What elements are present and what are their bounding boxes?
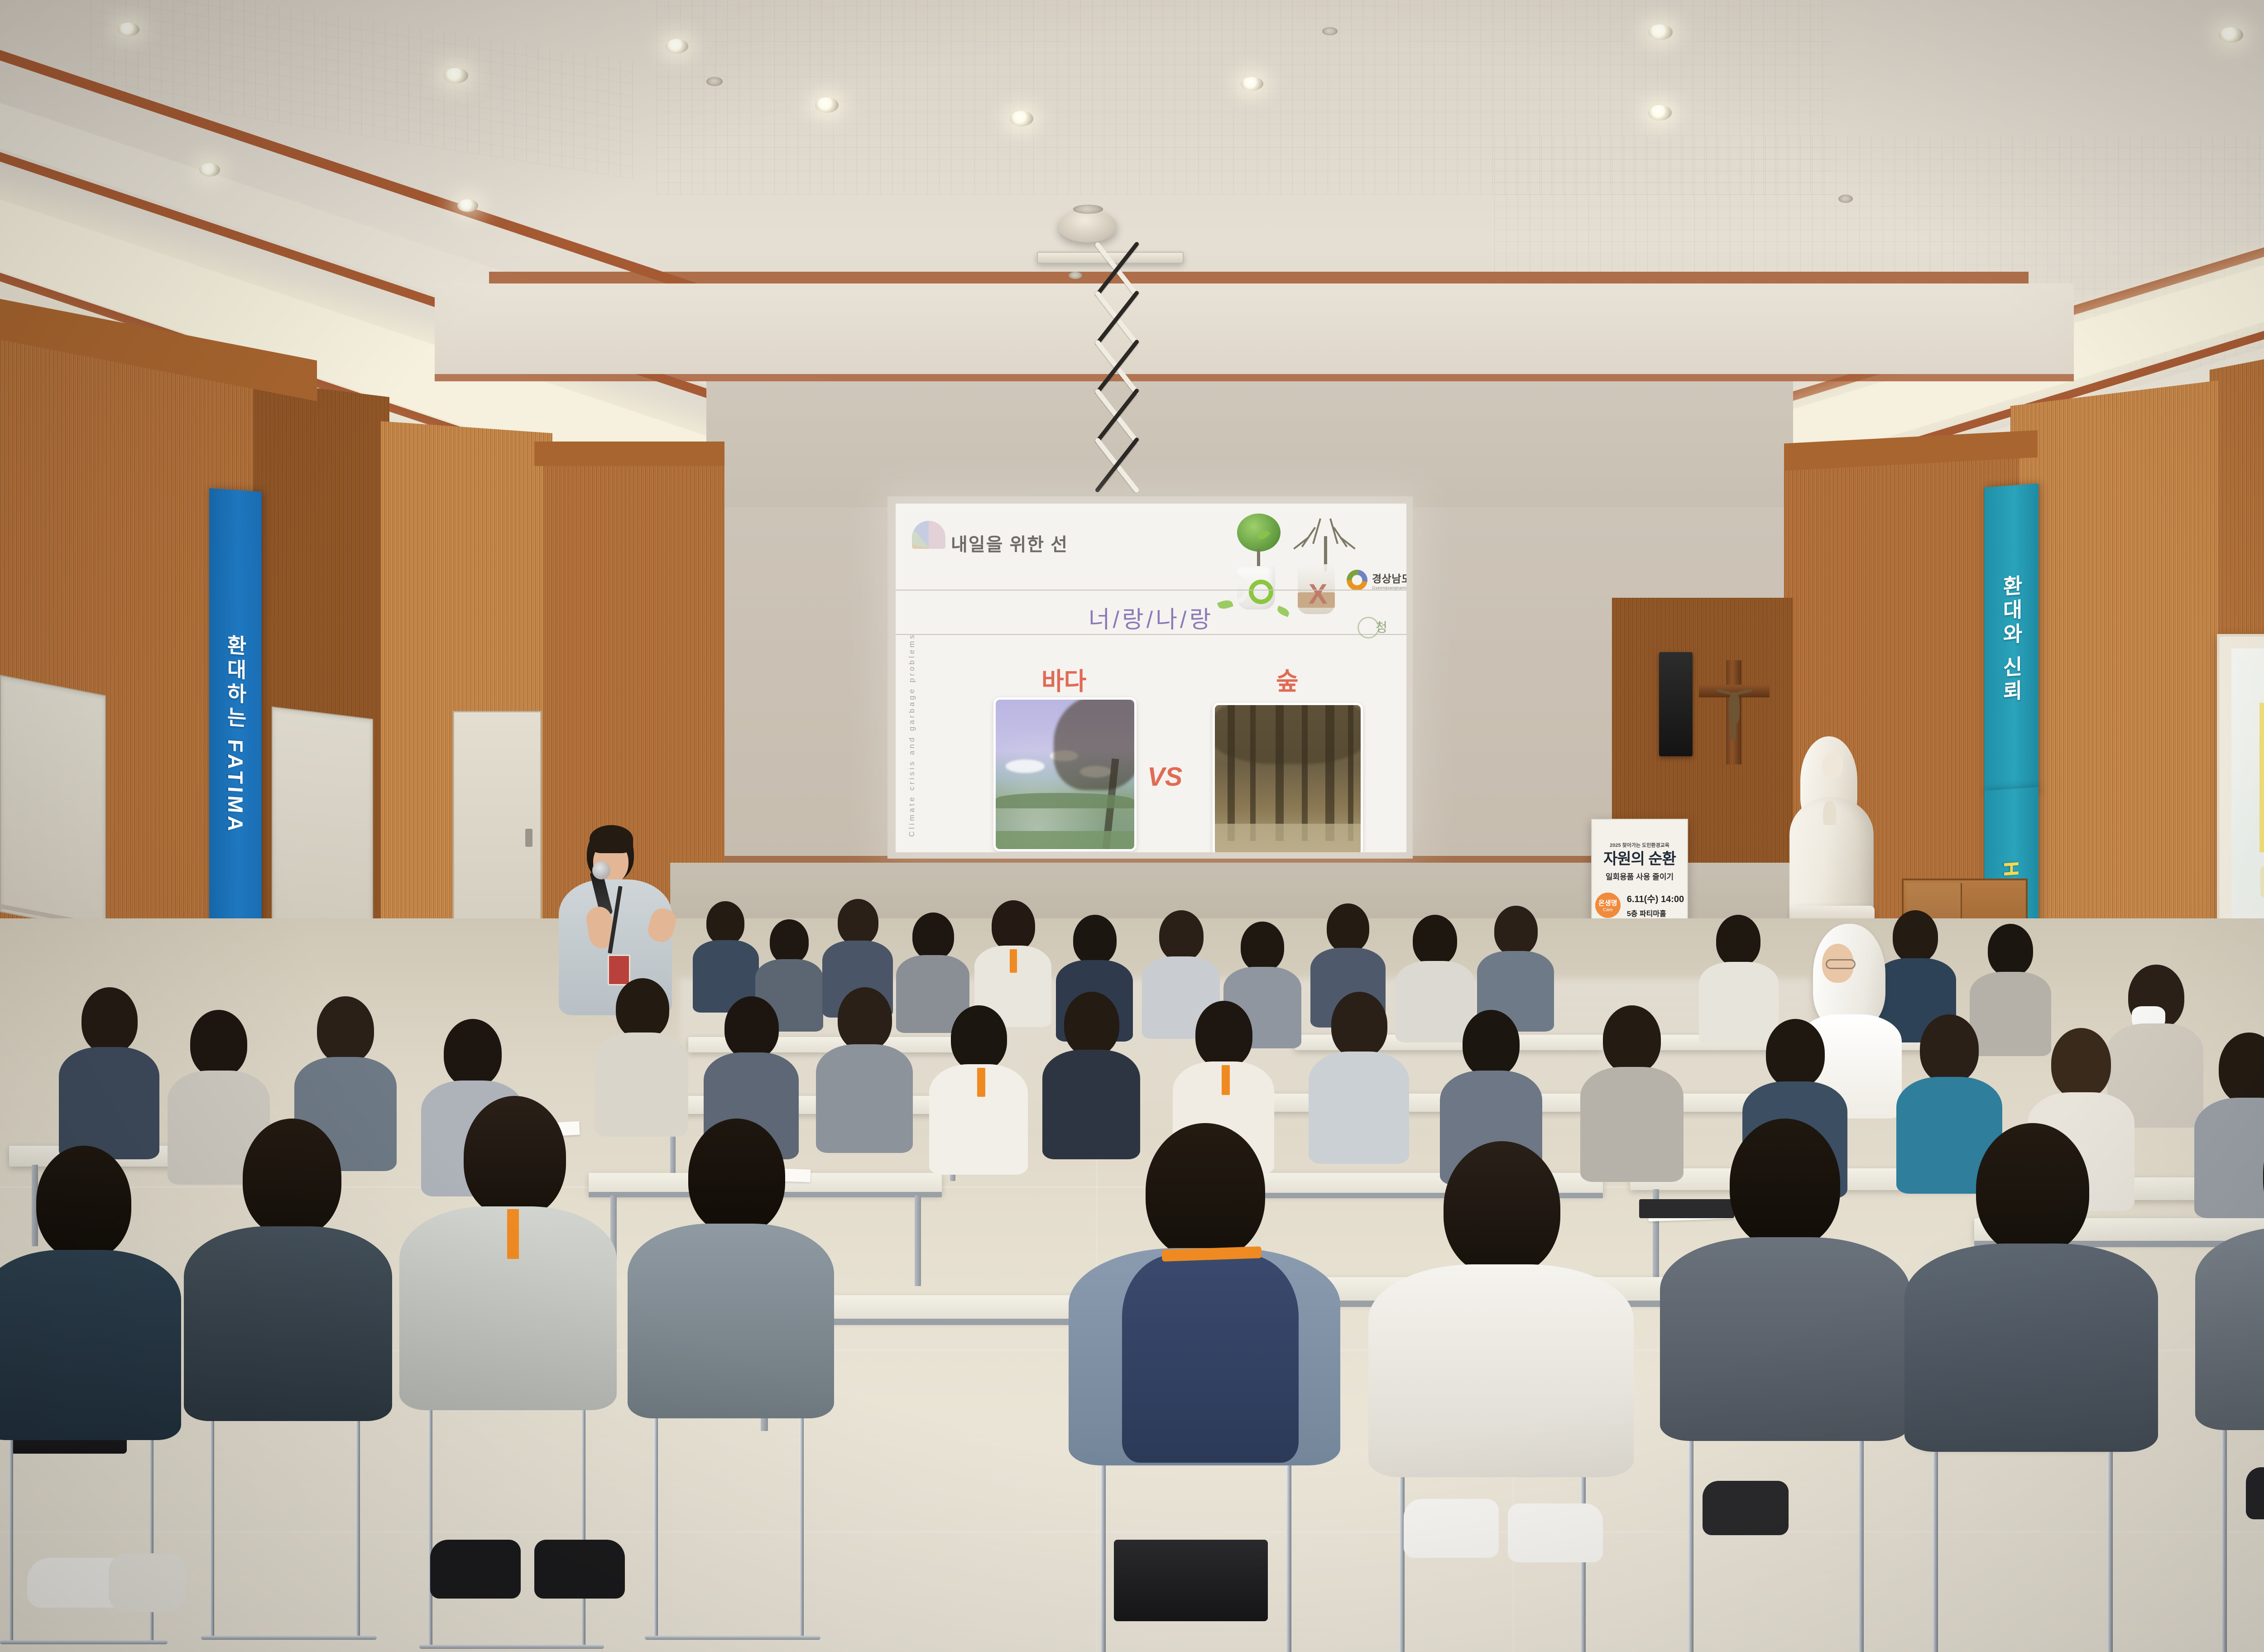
shoe	[1508, 1503, 1603, 1562]
attendee-vest	[1122, 1254, 1299, 1463]
chair-leg	[356, 1386, 360, 1639]
presenter-hair-front	[590, 825, 633, 853]
rollup-date: 6.11(수) 14:00	[1627, 892, 1684, 905]
green-tree-illustration	[1231, 512, 1290, 571]
rollup-badge-en: Care	[1603, 908, 1613, 912]
statue-face	[1822, 752, 1843, 778]
attendee-top	[0, 1250, 181, 1440]
rollup-care-badge: 온생명 Care	[1595, 893, 1621, 918]
ceiling-downlight	[1648, 24, 1673, 40]
floor-tile-seam	[0, 1531, 2264, 1533]
attendee-head	[1146, 1123, 1265, 1259]
painting-yellow-cloth	[2259, 703, 2264, 852]
stamp-ring-icon	[1357, 617, 1379, 639]
ceiling-front-trim	[435, 374, 2074, 381]
attendee-head	[36, 1146, 131, 1259]
attendee-top	[1904, 1244, 2158, 1452]
chair-foot	[201, 1636, 377, 1640]
ceiling-front-trim	[489, 272, 2029, 283]
backpack-on-floor[interactable]	[1114, 1540, 1268, 1621]
wall-speaker	[1659, 652, 1693, 756]
banner-right-line1: 환대와 신뢰	[2000, 574, 2023, 705]
attendee-head	[1730, 1119, 1840, 1248]
glasses-icon	[1826, 959, 1856, 969]
slide-tagline: 내일을 위한 선	[951, 530, 1068, 556]
attendee-top	[628, 1224, 834, 1418]
chair-foot	[0, 1640, 168, 1644]
banner-right: 환대와 신뢰	[1984, 484, 2039, 795]
ceiling-downlight	[1010, 111, 1033, 126]
table-leg	[915, 1196, 921, 1286]
ceiling-downlight	[444, 68, 468, 83]
presenter-id-badge	[608, 955, 630, 985]
attendee-top	[2195, 1226, 2264, 1430]
painting-canvas	[2231, 648, 2264, 965]
window-blind[interactable]	[0, 675, 106, 932]
shoe	[1404, 1499, 1499, 1558]
shoe	[2246, 1467, 2264, 1519]
slide-side-caption: Climate crisis and garbage problems	[907, 592, 916, 837]
presentation-slide: 내일을 위한 선 X 경상남도환경재단 Gye	[896, 504, 1406, 852]
forest-photo	[1213, 703, 1363, 852]
chair-leg	[1100, 1458, 1106, 1652]
chair-leg	[581, 1386, 585, 1648]
attendee-head	[1444, 1141, 1560, 1275]
chair-foot	[645, 1636, 820, 1640]
chair-leg	[1858, 1426, 1864, 1652]
attendee-head	[464, 1096, 566, 1217]
banner-left-line1: 환대하는 FATIMA	[224, 634, 247, 835]
foundation-name-kr: 경상남도환경재단	[1372, 570, 1406, 586]
lecture-hall-photo: 내일을 위한 선 X 경상남도환경재단 Gye	[0, 0, 2264, 1652]
chair-leg	[1399, 1463, 1405, 1652]
statue-praying-hands	[1823, 801, 1837, 825]
rollup-subtitle: 일회용품 사용 줄이기	[1592, 870, 1687, 882]
cup-handle-icon	[1224, 575, 1249, 603]
ceiling-downlight	[118, 23, 139, 36]
chair-leg	[210, 1386, 214, 1639]
attendee-head	[688, 1119, 785, 1234]
shoe	[534, 1540, 625, 1599]
attendee-top	[1368, 1264, 1634, 1477]
crucifix-corpus-legs	[1731, 721, 1736, 740]
chair-foot	[419, 1645, 604, 1649]
slide-left-label: 바다	[1041, 661, 1086, 697]
ceiling-front-soffit	[435, 283, 2074, 374]
ceiling-downlight	[666, 39, 688, 53]
ceiling-downlight	[1241, 77, 1263, 91]
banner-right-text: 환대와 신뢰	[1996, 574, 2026, 705]
ceiling-speaker-mount	[1073, 205, 1103, 214]
lanyard	[507, 1209, 519, 1259]
microphone-head	[592, 861, 610, 879]
chair-leg	[2221, 1408, 2227, 1652]
chair-leg	[2107, 1447, 2113, 1652]
shoe	[430, 1540, 521, 1599]
foundation-mark-icon	[1347, 570, 1367, 591]
ceiling-downlight	[199, 163, 220, 177]
rollup-badge-kr: 온생명	[1598, 898, 1617, 908]
wall-cap-moulding	[534, 442, 724, 466]
crucifix-corpus	[1729, 692, 1740, 724]
chair-leg	[1286, 1458, 1291, 1652]
ceiling-downlight	[815, 97, 839, 113]
slide-title: 너/랑/나/랑	[896, 600, 1406, 634]
attendee-top	[1660, 1237, 1910, 1441]
ceiling-vent	[706, 77, 723, 86]
chair-leg	[1933, 1447, 1938, 1652]
chair-leg	[800, 1386, 804, 1639]
seminar-table	[652, 1096, 969, 1114]
versus-label: VS	[1147, 762, 1182, 792]
painting-table	[2260, 861, 2264, 902]
notebook[interactable]	[1639, 1199, 1734, 1218]
ceiling-speaker	[1059, 211, 1117, 242]
rollup-eyebrow: 2025 찾아가는 도민환경교육	[1592, 841, 1687, 849]
foundation-logo: 경상남도환경재단 Gyeongsangnamdo Environment Fou…	[1347, 570, 1406, 591]
ceiling-downlight	[1648, 105, 1672, 120]
banner-left-text: 환대하는 FATIMA	[221, 634, 250, 836]
ceiling-vent	[1322, 27, 1338, 35]
bare-tree-illustration	[1294, 510, 1357, 573]
slide-right-label: 숲	[1276, 661, 1299, 697]
attendee-head	[1976, 1123, 2089, 1254]
banner-left: 환대하는 FATIMA	[209, 488, 262, 981]
attendee-head	[243, 1119, 341, 1236]
chair-leg	[1688, 1426, 1693, 1652]
slide-brand-logo-icon	[912, 521, 945, 549]
rollup-title: 자원의 순환	[1592, 851, 1687, 867]
ceiling-downlight	[457, 199, 478, 212]
attendee-top	[184, 1226, 392, 1421]
chair-leg	[654, 1386, 658, 1639]
door-handle[interactable]	[525, 829, 532, 847]
shoe	[1703, 1481, 1789, 1535]
ceiling-vent	[1838, 195, 1853, 203]
sea-photo	[993, 697, 1137, 851]
chair-leg	[428, 1386, 432, 1648]
ceiling-vent	[1069, 272, 1082, 279]
rollup-place: 5층 파티마홀	[1627, 908, 1684, 918]
shoe	[109, 1553, 186, 1612]
ceiling-downlight	[2219, 27, 2243, 43]
window-blind[interactable]	[272, 706, 373, 947]
